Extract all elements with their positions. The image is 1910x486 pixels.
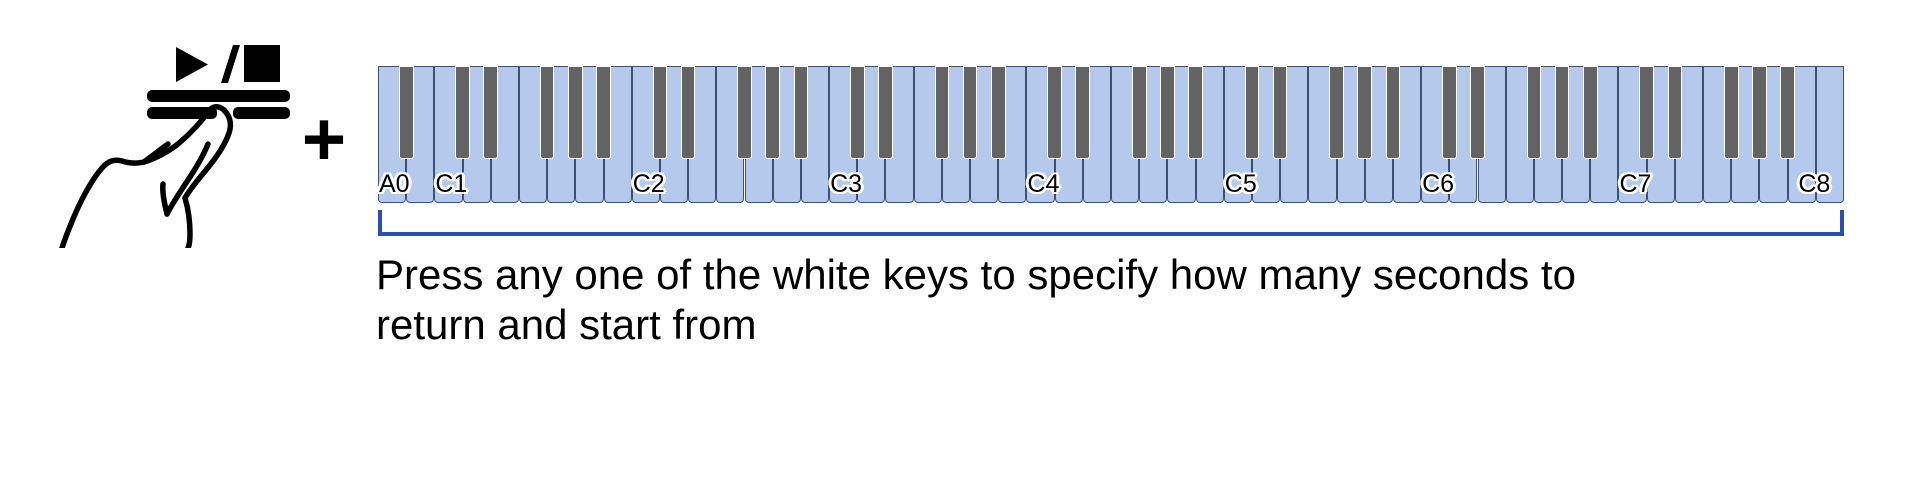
black-key-csharp5[interactable] [1245, 66, 1260, 159]
key-label-c1: C1 [435, 172, 467, 197]
black-key-asharp3[interactable] [991, 66, 1006, 159]
black-key-asharp2[interactable] [794, 66, 809, 159]
slash-separator [221, 45, 240, 83]
black-key-gsharp2[interactable] [765, 66, 780, 159]
black-key-csharp7[interactable] [1639, 66, 1654, 159]
black-key-asharp4[interactable] [1188, 66, 1203, 159]
black-key-fsharp2[interactable] [737, 66, 752, 159]
black-key-asharp7[interactable] [1780, 66, 1795, 159]
play-icon [176, 47, 208, 82]
black-key-gsharp7[interactable] [1752, 66, 1767, 159]
key-label-a0: A0 [379, 172, 410, 197]
caption-text: Press any one of the white keys to speci… [376, 250, 1876, 350]
black-key-dsharp3[interactable] [878, 66, 893, 159]
black-key-dsharp2[interactable] [681, 66, 696, 159]
caption-line-2: return and start from [376, 300, 1876, 350]
key-label-c3: C3 [830, 172, 862, 197]
button-bar-lower-right [233, 107, 290, 119]
instruction-illustration: + A0C1C2C3C4C5C6C7C8 Press any one of th… [0, 0, 1910, 486]
black-key-dsharp5[interactable] [1273, 66, 1288, 159]
plus-sign: + [292, 108, 356, 172]
black-key-gsharp4[interactable] [1160, 66, 1175, 159]
black-key-dsharp7[interactable] [1668, 66, 1683, 159]
black-key-dsharp4[interactable] [1075, 66, 1090, 159]
black-key-asharp6[interactable] [1583, 66, 1598, 159]
black-key-gsharp5[interactable] [1357, 66, 1372, 159]
black-key-fsharp3[interactable] [935, 66, 950, 159]
key-label-c4: C4 [1027, 172, 1059, 197]
black-key-fsharp5[interactable] [1329, 66, 1344, 159]
black-key-fsharp7[interactable] [1724, 66, 1739, 159]
key-label-c8: C8 [1798, 172, 1830, 197]
key-label-c7: C7 [1619, 172, 1651, 197]
black-key-dsharp6[interactable] [1470, 66, 1485, 159]
black-key-fsharp6[interactable] [1527, 66, 1542, 159]
black-key-fsharp1[interactable] [540, 66, 555, 159]
black-key-gsharp6[interactable] [1555, 66, 1570, 159]
stop-icon [244, 45, 280, 82]
black-key-asharp0[interactable] [399, 66, 414, 159]
keyboard-range-bracket [378, 210, 1844, 236]
key-label-c5: C5 [1225, 172, 1257, 197]
black-key-gsharp3[interactable] [963, 66, 978, 159]
black-key-csharp2[interactable] [653, 66, 668, 159]
black-key-csharp4[interactable] [1047, 66, 1062, 159]
keyboard-keys-container[interactable]: A0C1C2C3C4C5C6C7C8 [378, 66, 1844, 203]
pointing-hand-icon [62, 107, 230, 248]
button-bar-upper [147, 90, 290, 102]
black-key-dsharp1[interactable] [483, 66, 498, 159]
caption-line-1: Press any one of the white keys to speci… [376, 250, 1876, 300]
black-key-asharp5[interactable] [1386, 66, 1401, 159]
black-key-csharp6[interactable] [1442, 66, 1457, 159]
black-key-asharp1[interactable] [596, 66, 611, 159]
black-key-csharp1[interactable] [455, 66, 470, 159]
key-label-c2: C2 [633, 172, 665, 197]
black-key-csharp3[interactable] [850, 66, 865, 159]
key-label-c6: C6 [1422, 172, 1454, 197]
black-key-gsharp1[interactable] [568, 66, 583, 159]
black-key-fsharp4[interactable] [1132, 66, 1147, 159]
piano-keyboard[interactable]: A0C1C2C3C4C5C6C7C8 [378, 66, 1844, 203]
